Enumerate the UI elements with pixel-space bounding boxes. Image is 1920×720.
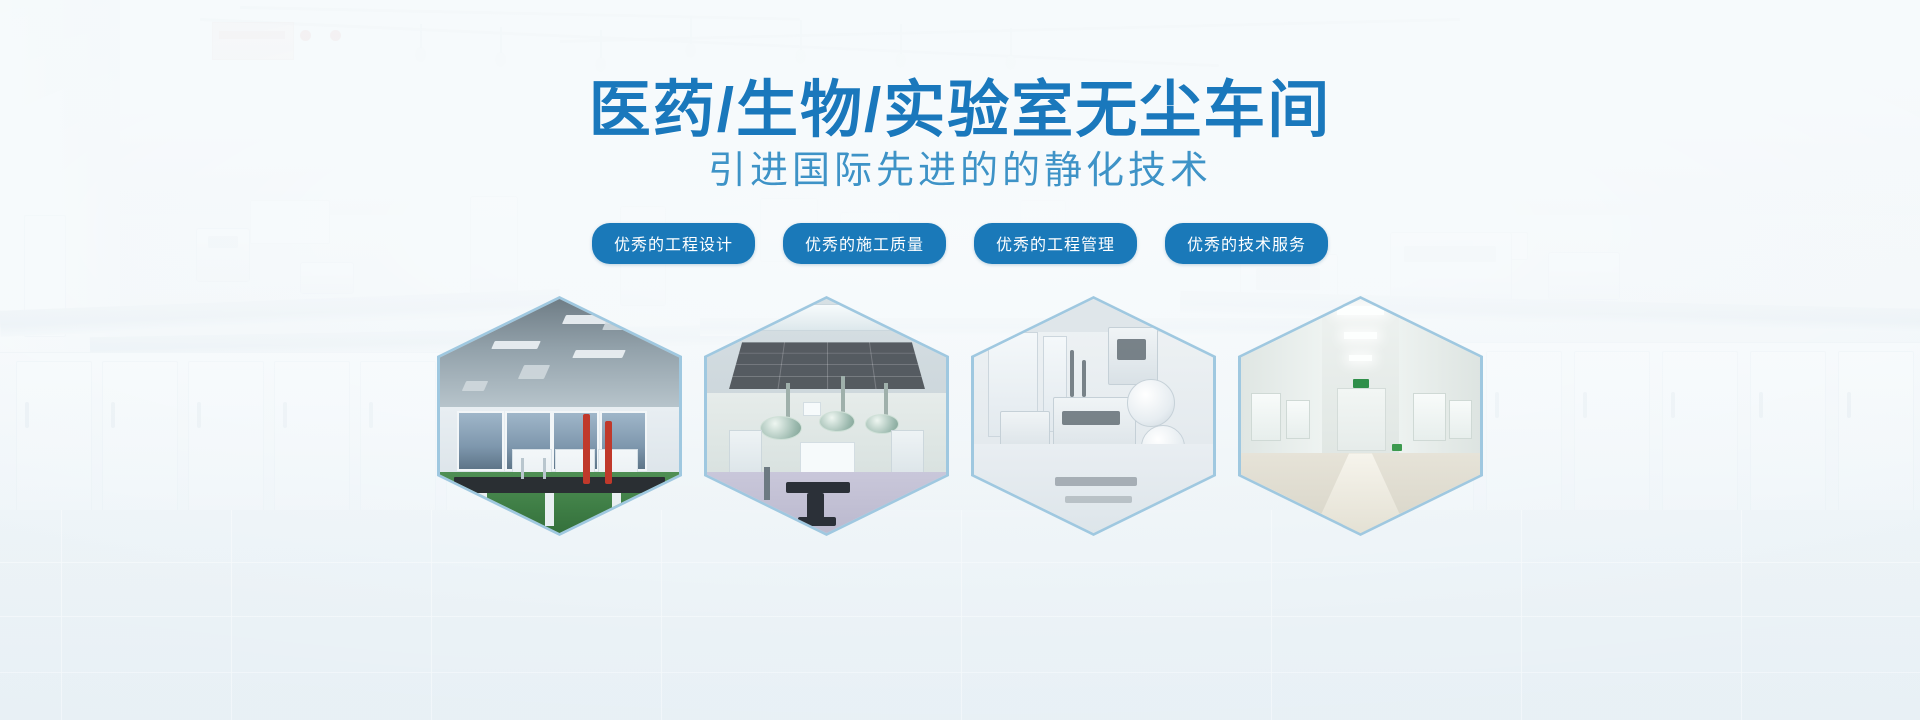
badge-engineering-design[interactable]: 优秀的工程设计 <box>592 223 755 264</box>
banner-content: 医药/生物/实验室无尘车间 引进国际先进的的静化技术 优秀的工程设计 优秀的施工… <box>0 0 1920 720</box>
badge-project-management[interactable]: 优秀的工程管理 <box>974 223 1137 264</box>
banner-subtitle: 引进国际先进的的静化技术 <box>0 152 1920 190</box>
hexagon-image-operating-room <box>707 299 946 533</box>
hexagon-image-machinery <box>974 299 1213 533</box>
hexagon-tile-laboratory[interactable] <box>437 296 682 536</box>
hexagon-image-laboratory <box>440 299 679 533</box>
hexagon-tile-machinery[interactable] <box>971 296 1216 536</box>
banner-title: 医药/生物/实验室无尘车间 <box>0 80 1920 142</box>
hexagon-tile-corridor[interactable] <box>1238 296 1483 536</box>
hexagon-tile-operating-room[interactable] <box>704 296 949 536</box>
hero-banner: 医药/生物/实验室无尘车间 引进国际先进的的静化技术 优秀的工程设计 优秀的施工… <box>0 0 1920 720</box>
badge-technical-service[interactable]: 优秀的技术服务 <box>1165 223 1328 264</box>
hexagon-gallery <box>0 296 1920 536</box>
badge-construction-quality[interactable]: 优秀的施工质量 <box>783 223 946 264</box>
hexagon-image-corridor <box>1241 299 1480 533</box>
badge-list: 优秀的工程设计 优秀的施工质量 优秀的工程管理 优秀的技术服务 <box>0 223 1920 264</box>
